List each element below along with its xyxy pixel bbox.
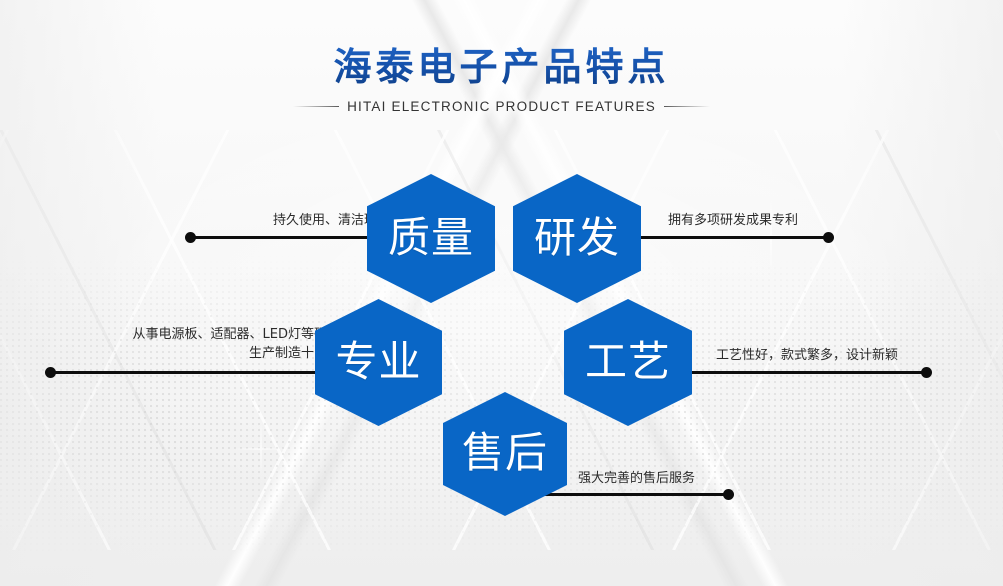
callout-profession: 从事电源板、适配器、LED灯等研发 生产制造十多年 [10,325,340,363]
callout-profession-line1: 从事电源板、适配器、LED灯等研发 [10,325,340,344]
connector-dot-rnd [823,232,834,243]
connector-line-rnd [622,236,829,239]
subtitle-row: HITAI ELECTRONIC PRODUCT FEATURES [0,99,1003,114]
connector-dot-craft [921,367,932,378]
callout-craft: 工艺性好，款式繁多，设计新颖 [716,346,1003,365]
hexagon-rnd-label: 研发 [534,217,620,259]
rule-left [293,106,339,107]
hexagon-aftersales-label: 售后 [462,432,548,474]
callout-profession-line2: 生产制造十多年 [10,344,340,363]
callout-aftersales: 强大完善的售后服务 [578,469,858,488]
connector-line-profession [50,371,340,374]
hexagon-quality-label: 质量 [388,217,474,259]
feature-graphic: 海泰电子产品特点 HITAI ELECTRONIC PRODUCT FEATUR… [0,0,1003,586]
callout-rnd: 拥有多项研发成果专利 [668,211,998,230]
callout-quality-line1: 持久使用、清洁环保 [90,211,390,230]
connector-line-quality [190,236,390,239]
callout-quality: 持久使用、清洁环保 [90,211,390,230]
callout-aftersales-line1: 强大完善的售后服务 [578,469,858,488]
rule-right [664,106,710,107]
hexagon-profession-label: 专业 [335,341,421,383]
page-title: 海泰电子产品特点 [0,44,1003,90]
callout-craft-line1: 工艺性好，款式繁多，设计新颖 [716,346,1003,365]
callout-rnd-line1: 拥有多项研发成果专利 [668,211,998,230]
page-subtitle: HITAI ELECTRONIC PRODUCT FEATURES [347,99,656,114]
connector-dot-aftersales [723,489,734,500]
title-block: 海泰电子产品特点 HITAI ELECTRONIC PRODUCT FEATUR… [0,44,1003,114]
connector-line-craft [676,371,926,374]
connector-line-aftersales [520,493,728,496]
hexagon-craft-label: 工艺 [585,341,671,383]
